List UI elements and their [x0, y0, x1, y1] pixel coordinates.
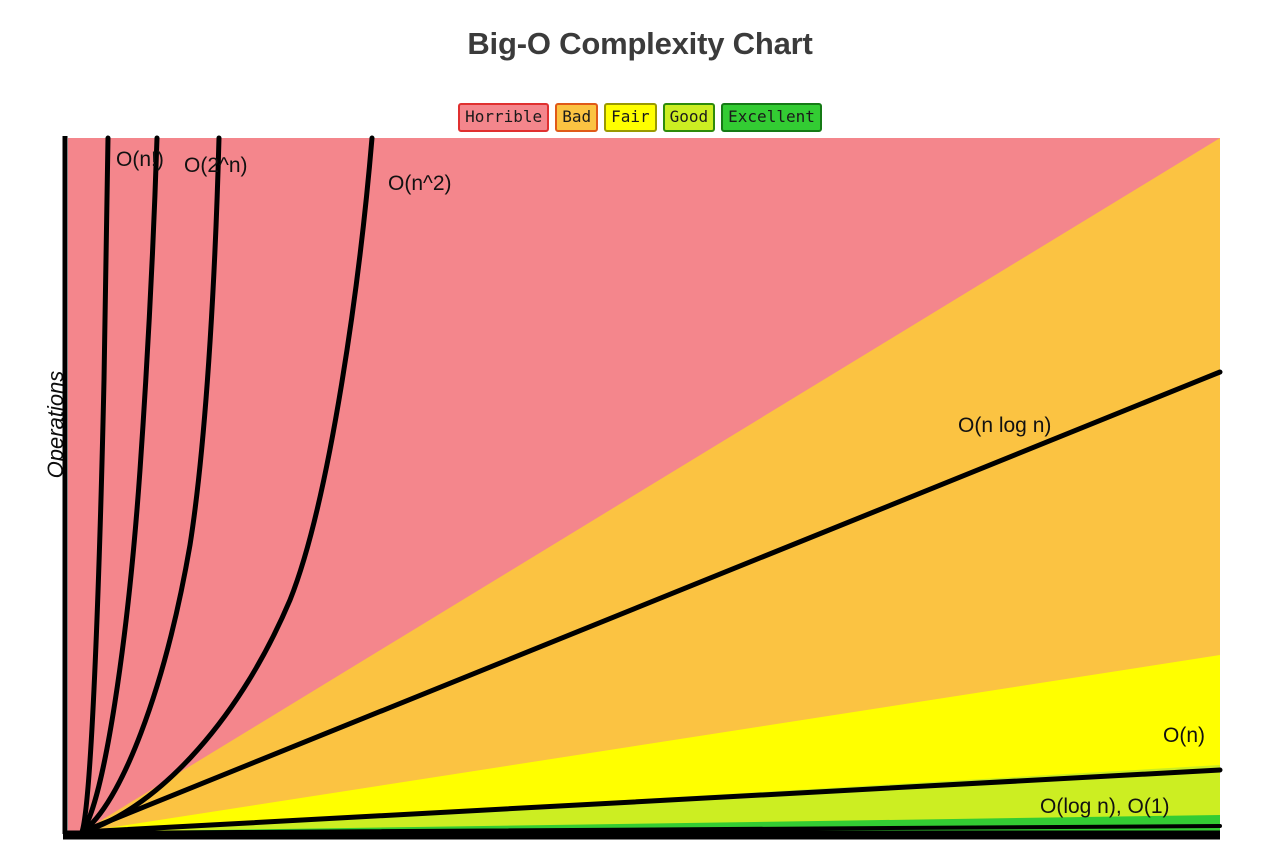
label-o-n-factorial: O(n!)	[116, 148, 164, 171]
label-o-2-pow-n: O(2^n)	[184, 154, 248, 177]
label-o-log-n-o-1: O(log n), O(1)	[1040, 795, 1170, 818]
label-o-n-squared: O(n^2)	[388, 172, 452, 195]
label-o-n-log-n: O(n log n)	[958, 414, 1051, 437]
big-o-complexity-chart: Big-O Complexity Chart Horrible Bad Fair…	[0, 0, 1280, 849]
plot-area: O(n!) O(2^n) O(n^2) O(n log n) O(n) O(lo…	[0, 0, 1280, 849]
label-o-n: O(n)	[1163, 724, 1205, 747]
